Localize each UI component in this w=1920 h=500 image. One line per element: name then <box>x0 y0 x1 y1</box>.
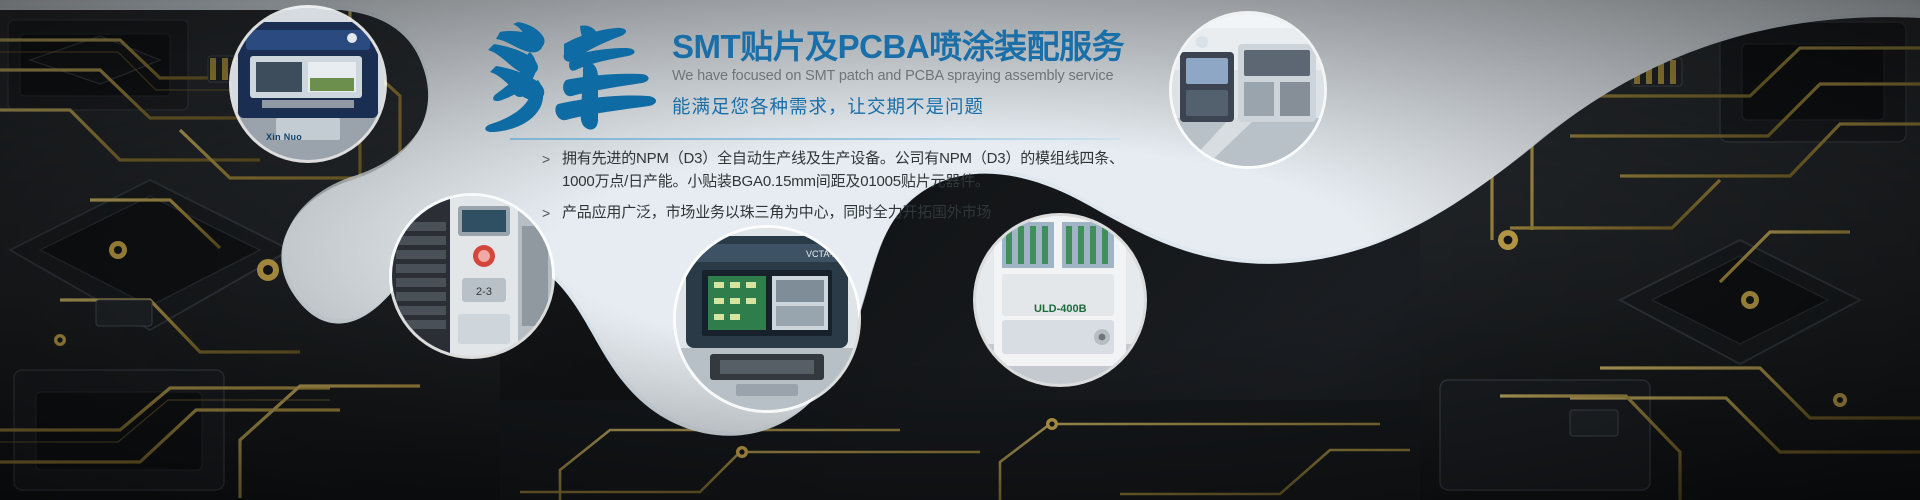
page-subtitle-cn: 能满足您各种需求，让交期不是问题 <box>672 93 1172 119</box>
bullet-marker-icon: > <box>542 148 562 170</box>
photo-caption: Xin Nuo <box>266 132 302 142</box>
list-item-text: 拥有先进的NPM（D3）全自动生产线及生产设备。公司有NPM（D3）的模组线四条… <box>562 148 1152 193</box>
page-subtitle-en: We have focused on SMT patch and PCBA sp… <box>672 68 1172 84</box>
svg-text:2-3: 2-3 <box>476 286 492 298</box>
photo-smt-printer: Xin Nuo <box>232 8 384 160</box>
photo-aoi-inspection: VCTA-A410 <box>676 228 858 410</box>
smt-printer-machine <box>232 8 384 160</box>
photo-chip-mounter: 2-3 <box>392 196 552 356</box>
list-item: > 拥有先进的NPM（D3）全自动生产线及生产设备。公司有NPM（D3）的模组线… <box>542 148 1202 193</box>
chip-mounter-machine: 2-3 <box>392 196 552 356</box>
uld-loader-machine: ULD-400B <box>976 216 1144 384</box>
calligraphy-duonian <box>480 16 660 132</box>
promo-banner: Xin Nuo 2-3 <box>0 0 1920 500</box>
photo-production-line <box>1172 14 1324 166</box>
aoi-model-label: VCTA-A410 <box>806 249 853 259</box>
smt-production-line <box>1172 14 1324 166</box>
photo-uld-loader: ULD-400B <box>976 216 1144 384</box>
page-title: SMT贴片及PCBA喷涂装配服务 <box>672 30 1172 65</box>
section-divider <box>510 138 1120 140</box>
heading-group: SMT贴片及PCBA喷涂装配服务 We have focused on SMT … <box>672 30 1172 119</box>
aoi-inspection-machine: VCTA-A410 <box>676 228 858 410</box>
list-item-text: 产品应用广泛，市场业务以珠三角为中心，同时全力开拓国外市场 <box>562 202 991 225</box>
uld-model-label: ULD-400B <box>1034 303 1087 315</box>
